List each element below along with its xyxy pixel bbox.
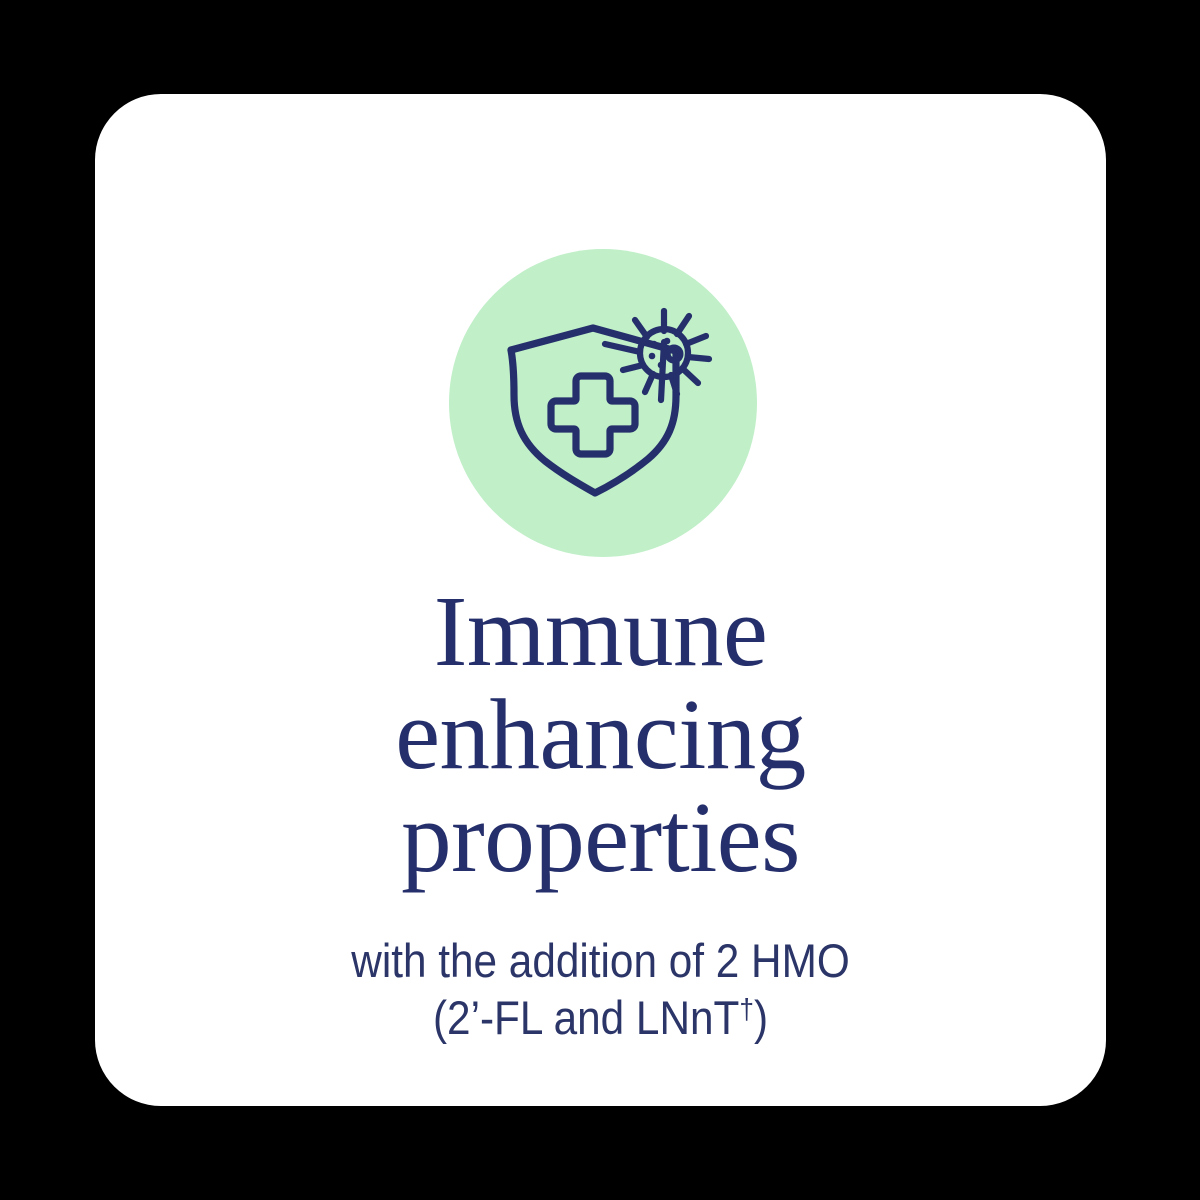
headline-line-2: enhancing	[95, 683, 1106, 786]
headline-line-1: Immune	[95, 580, 1106, 683]
germ-stem	[661, 342, 664, 400]
screenshot-canvas: Immune enhancing properties with the add…	[0, 0, 1200, 1200]
germ-spikes	[605, 311, 709, 394]
subtitle-line-1: with the addition of 2 HMO	[146, 932, 1056, 989]
headline: Immune enhancing properties	[95, 580, 1106, 889]
subtitle: with the addition of 2 HMO (2’-FL and LN…	[146, 932, 1056, 1046]
subtitle-line-2-suffix: )	[754, 991, 768, 1044]
medical-cross-icon	[551, 376, 635, 454]
subtitle-line-2-prefix: (2’-FL and LNnT	[433, 991, 739, 1044]
feature-card: Immune enhancing properties with the add…	[95, 94, 1106, 1106]
shield-with-germ-icon	[493, 303, 713, 503]
headline-line-3: properties	[95, 786, 1106, 889]
subtitle-line-2: (2’-FL and LNnT†)	[146, 989, 1056, 1046]
footnote-marker: †	[739, 994, 754, 1026]
icon-badge	[449, 249, 757, 557]
